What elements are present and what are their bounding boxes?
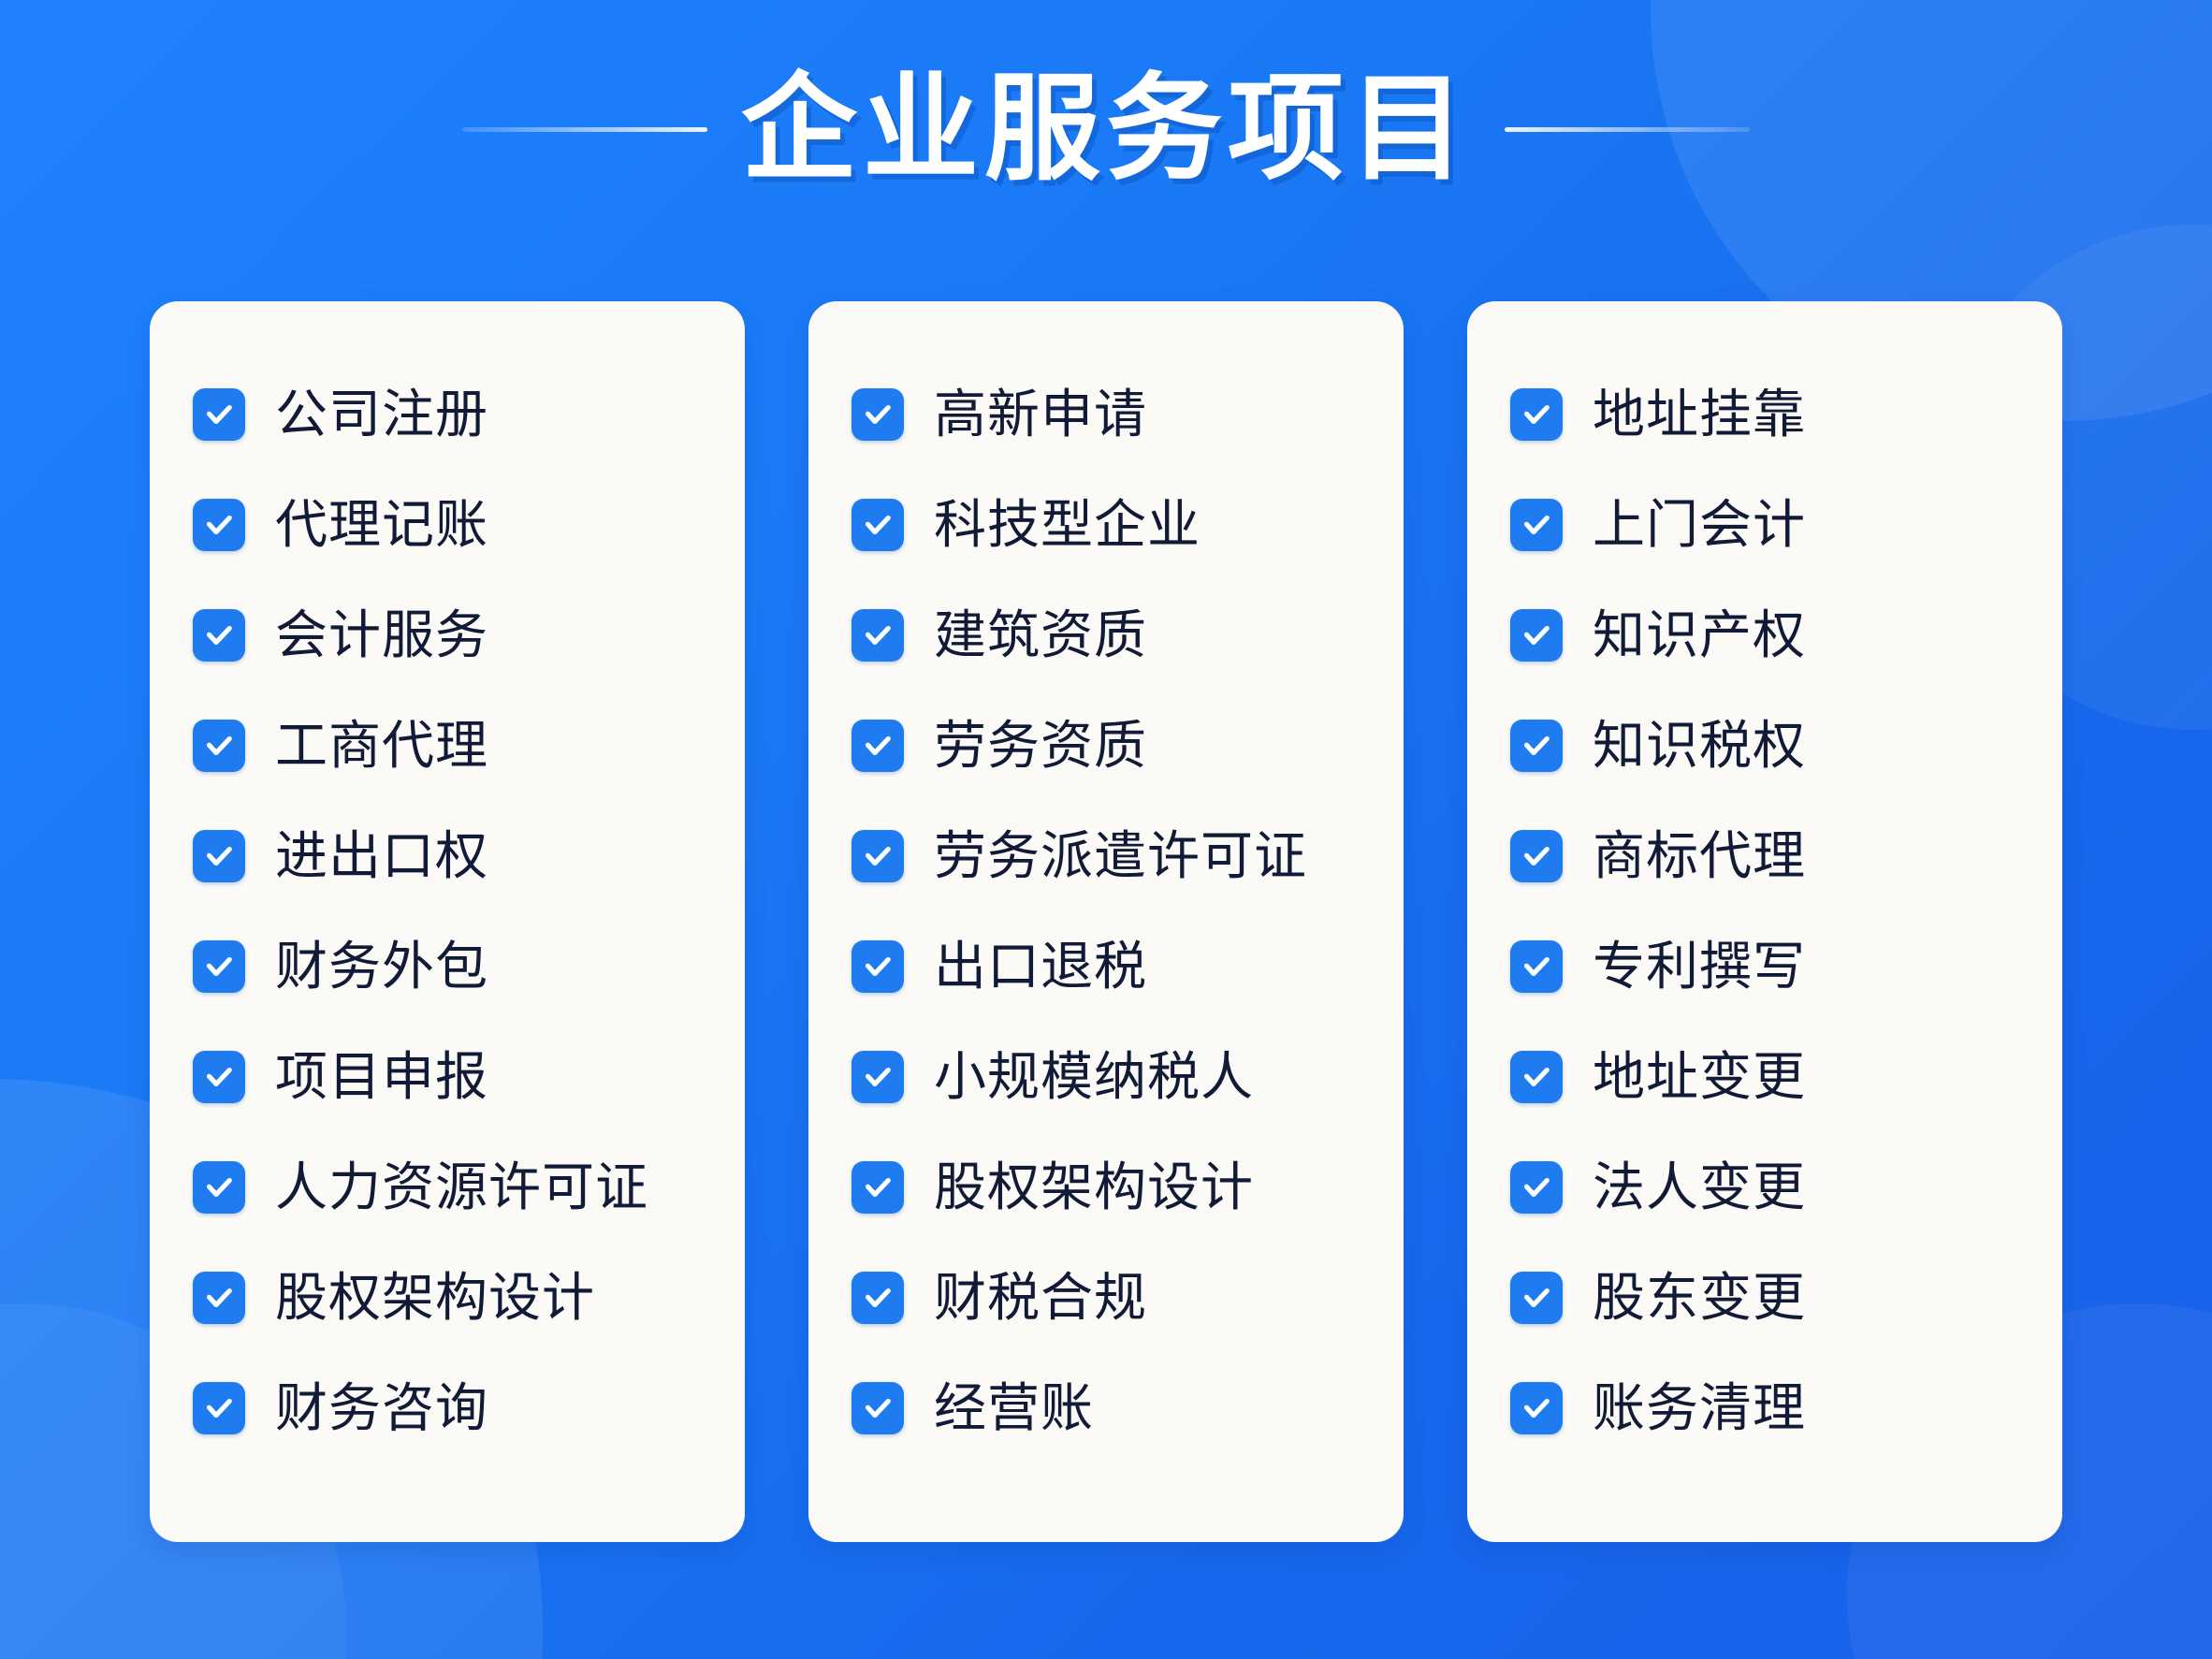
service-label: 知识产权 xyxy=(1593,608,1806,663)
check-icon[interactable] xyxy=(851,1161,904,1214)
service-columns: 公司注册 代理记账 会计服务 xyxy=(150,301,2062,1542)
list-item[interactable]: 地址变更 xyxy=(1510,1022,2034,1132)
list-item[interactable]: 财务咨询 xyxy=(193,1353,717,1463)
check-icon[interactable] xyxy=(193,609,245,662)
service-list-1: 公司注册 代理记账 会计服务 xyxy=(193,359,717,1463)
list-item[interactable]: 公司注册 xyxy=(193,359,717,470)
service-label: 工商代理 xyxy=(275,719,488,774)
list-item[interactable]: 股权架构设计 xyxy=(193,1243,717,1353)
list-item[interactable]: 人力资源许可证 xyxy=(193,1132,717,1243)
check-icon[interactable] xyxy=(193,1051,245,1103)
title-rule-left xyxy=(462,127,707,132)
title-rule-right xyxy=(1505,127,1750,132)
check-icon[interactable] xyxy=(1510,1272,1563,1324)
list-item[interactable]: 会计服务 xyxy=(193,580,717,691)
check-icon[interactable] xyxy=(1510,1051,1563,1103)
check-icon[interactable] xyxy=(851,720,904,772)
service-label: 代理记账 xyxy=(275,498,488,553)
list-item[interactable]: 经营账 xyxy=(851,1353,1375,1463)
list-item[interactable]: 法人变更 xyxy=(1510,1132,2034,1243)
list-item[interactable]: 知识产权 xyxy=(1510,580,2034,691)
check-icon[interactable] xyxy=(1510,720,1563,772)
list-item[interactable]: 地址挂靠 xyxy=(1510,359,2034,470)
list-item[interactable]: 出口退税 xyxy=(851,911,1375,1022)
check-icon[interactable] xyxy=(193,499,245,551)
list-item[interactable]: 商标代理 xyxy=(1510,801,2034,911)
list-item[interactable]: 小规模纳税人 xyxy=(851,1022,1375,1132)
check-icon[interactable] xyxy=(193,1272,245,1324)
service-label: 公司注册 xyxy=(275,387,488,443)
page-header: 企业服务项目 xyxy=(0,54,2212,204)
service-label: 股权架构设计 xyxy=(934,1160,1254,1215)
service-label: 财务咨询 xyxy=(275,1381,488,1436)
service-label: 建筑资质 xyxy=(934,608,1147,663)
service-label: 劳务派遣许可证 xyxy=(934,829,1307,884)
list-item[interactable]: 财税合规 xyxy=(851,1243,1375,1353)
check-icon[interactable] xyxy=(851,1382,904,1434)
check-icon[interactable] xyxy=(851,1272,904,1324)
service-label: 会计服务 xyxy=(275,608,488,663)
service-list-2: 高新申请 科技型企业 建筑资质 xyxy=(851,359,1375,1463)
check-icon[interactable] xyxy=(851,388,904,441)
check-icon[interactable] xyxy=(851,830,904,882)
check-icon[interactable] xyxy=(193,1382,245,1434)
service-label: 知识税权 xyxy=(1593,719,1806,774)
service-label: 股权架构设计 xyxy=(275,1271,595,1326)
poster-canvas: 企业服务项目 公司注册 代理记账 xyxy=(0,0,2212,1659)
service-label: 股东变更 xyxy=(1593,1271,1806,1326)
check-icon[interactable] xyxy=(1510,499,1563,551)
check-icon[interactable] xyxy=(193,1161,245,1214)
list-item[interactable]: 进出口权 xyxy=(193,801,717,911)
check-icon[interactable] xyxy=(1510,1161,1563,1214)
service-label: 科技型企业 xyxy=(934,498,1201,553)
service-label: 经营账 xyxy=(934,1381,1094,1436)
check-icon[interactable] xyxy=(193,830,245,882)
list-item[interactable]: 劳务派遣许可证 xyxy=(851,801,1375,911)
page-title: 企业服务项目 xyxy=(741,71,1471,187)
check-icon[interactable] xyxy=(1510,1382,1563,1434)
check-icon[interactable] xyxy=(1510,609,1563,662)
list-item[interactable]: 上门会计 xyxy=(1510,470,2034,580)
service-label: 上门会计 xyxy=(1593,498,1806,553)
check-icon[interactable] xyxy=(1510,830,1563,882)
service-label: 出口退税 xyxy=(934,939,1147,995)
service-label: 人力资源许可证 xyxy=(275,1160,648,1215)
check-icon[interactable] xyxy=(193,720,245,772)
service-label: 地址变更 xyxy=(1593,1050,1806,1105)
list-item[interactable]: 科技型企业 xyxy=(851,470,1375,580)
service-label: 法人变更 xyxy=(1593,1160,1806,1215)
list-item[interactable]: 股东变更 xyxy=(1510,1243,2034,1353)
check-icon[interactable] xyxy=(1510,940,1563,993)
check-icon[interactable] xyxy=(851,940,904,993)
service-label: 账务清理 xyxy=(1593,1381,1806,1436)
check-icon[interactable] xyxy=(193,940,245,993)
list-item[interactable]: 劳务资质 xyxy=(851,691,1375,801)
service-card-column-3: 地址挂靠 上门会计 知识产权 xyxy=(1467,301,2062,1542)
list-item[interactable]: 工商代理 xyxy=(193,691,717,801)
service-label: 财务外包 xyxy=(275,939,488,995)
list-item[interactable]: 股权架构设计 xyxy=(851,1132,1375,1243)
list-item[interactable]: 高新申请 xyxy=(851,359,1375,470)
list-item[interactable]: 财务外包 xyxy=(193,911,717,1022)
service-label: 地址挂靠 xyxy=(1593,387,1806,443)
service-label: 小规模纳税人 xyxy=(934,1050,1254,1105)
list-item[interactable]: 账务清理 xyxy=(1510,1353,2034,1463)
service-list-3: 地址挂靠 上门会计 知识产权 xyxy=(1510,359,2034,1463)
service-label: 财税合规 xyxy=(934,1271,1147,1326)
service-label: 劳务资质 xyxy=(934,719,1147,774)
service-card-column-2: 高新申请 科技型企业 建筑资质 xyxy=(808,301,1404,1542)
check-icon[interactable] xyxy=(851,609,904,662)
service-label: 专利撰写 xyxy=(1593,939,1806,995)
service-card-column-1: 公司注册 代理记账 会计服务 xyxy=(150,301,745,1542)
check-icon[interactable] xyxy=(1510,388,1563,441)
check-icon[interactable] xyxy=(193,388,245,441)
list-item[interactable]: 知识税权 xyxy=(1510,691,2034,801)
list-item[interactable]: 项目申报 xyxy=(193,1022,717,1132)
service-label: 商标代理 xyxy=(1593,829,1806,884)
list-item[interactable]: 代理记账 xyxy=(193,470,717,580)
list-item[interactable]: 建筑资质 xyxy=(851,580,1375,691)
service-label: 进出口权 xyxy=(275,829,488,884)
check-icon[interactable] xyxy=(851,499,904,551)
service-label: 高新申请 xyxy=(934,387,1147,443)
check-icon[interactable] xyxy=(851,1051,904,1103)
service-label: 项目申报 xyxy=(275,1050,488,1105)
list-item[interactable]: 专利撰写 xyxy=(1510,911,2034,1022)
